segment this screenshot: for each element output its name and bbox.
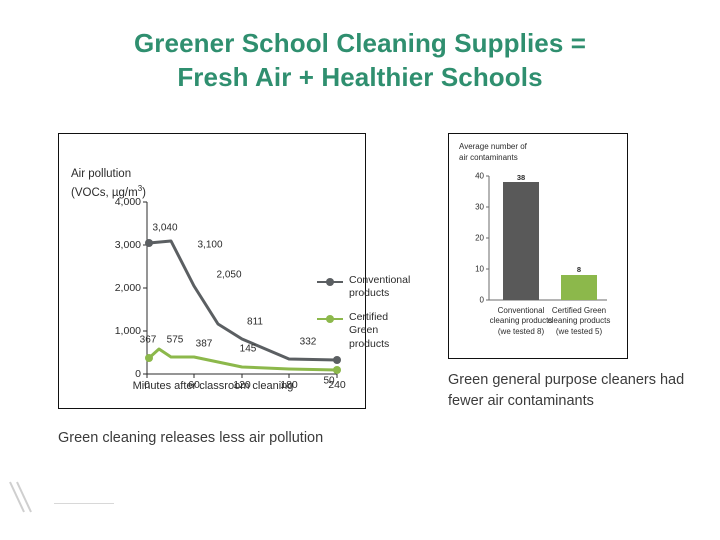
bar-chart-ytick-10: 10 (475, 265, 484, 274)
bar-chart-ytick-30: 30 (475, 203, 484, 212)
bar-category-green-line-2: cleaning products (543, 316, 615, 326)
legend-marker-certified-green-icon (317, 314, 343, 324)
line-chart-ytick-3000: 3,000 (115, 239, 141, 251)
bar-category-green-line-3: (we tested 5) (543, 327, 615, 337)
bar-chart-title-line-1: Average number of (459, 142, 527, 153)
page-title-line-2: Fresh Air + Healthier Schools (60, 60, 660, 94)
decorative-divider (54, 503, 114, 504)
line-chart-ytick-0: 0 (135, 368, 141, 380)
bar-chart-panel: Average number of air contaminants 0 10 … (448, 133, 628, 359)
bar-chart-title: Average number of air contaminants (459, 142, 527, 164)
legend-item-conventional: Conventional products (317, 274, 410, 300)
bar-chart-ytick-0: 0 (480, 296, 484, 305)
bar-chart-title-line-2: air contaminants (459, 153, 527, 164)
line-chart-ytick-2000: 2,000 (115, 282, 141, 294)
line-chart-ytick-1000: 1,000 (115, 325, 141, 337)
axis-units-suffix: ) (142, 187, 146, 199)
data-label-conventional-3100: 3,100 (197, 240, 222, 251)
page-title-line-1: Greener School Cleaning Supplies = (60, 26, 660, 60)
decorative-corner-icon (8, 480, 48, 514)
bar-value-conventional: 38 (517, 173, 525, 182)
data-label-green-387: 387 (196, 339, 213, 350)
data-label-green-145: 145 (240, 344, 257, 355)
bar-chart-ytick-40: 40 (475, 172, 484, 181)
data-label-green-367: 367 (140, 335, 157, 346)
bar-chart-plot-area: 0 10 20 30 40 38 8 Conventional cleaning… (489, 176, 607, 300)
legend-label-conventional: Conventional products (349, 274, 410, 300)
bar-category-label-certified-green: Certified Green cleaning products (we te… (543, 306, 615, 337)
left-caption: Green cleaning releases less air polluti… (58, 428, 348, 449)
legend-item-certified-green: Certified Green products (317, 311, 410, 350)
line-chart-panel: Air pollution (VOCs, µg/m3) (58, 133, 366, 409)
line-chart-legend: Conventional products Certified Green pr… (317, 274, 410, 362)
data-label-conventional-2050: 2,050 (216, 270, 241, 281)
bar-value-certified-green: 8 (577, 265, 581, 274)
data-label-conventional-3040: 3,040 (152, 223, 177, 234)
line-chart-ytick-4000: 4,000 (115, 196, 141, 208)
bar-conventional (503, 182, 539, 300)
data-label-green-575: 575 (167, 335, 184, 346)
data-label-conventional-332: 332 (300, 337, 317, 348)
line-chart-xaxis-title: Minutes after classroom cleaning (59, 380, 367, 392)
bar-category-green-line-1: Certified Green (543, 306, 615, 316)
line-chart-axis-title-line-2: (VOCs, µg/m3) (71, 183, 231, 202)
legend-label-certified-green: Certified Green products (349, 311, 410, 350)
data-label-conventional-811: 811 (247, 317, 263, 328)
line-chart-plot-area: 0 1,000 2,000 3,000 4,000 0 60 120 180 2… (147, 202, 337, 374)
page-title: Greener School Cleaning Supplies = Fresh… (60, 26, 660, 95)
right-caption: Green general purpose cleaners had fewer… (448, 370, 688, 412)
legend-marker-conventional-icon (317, 277, 343, 287)
bar-certified-green (561, 275, 597, 300)
bar-chart-ytick-20: 20 (475, 234, 484, 243)
line-chart-axis-title: Air pollution (VOCs, µg/m3) (71, 166, 231, 201)
line-chart-axis-title-line-1: Air pollution (71, 166, 231, 183)
